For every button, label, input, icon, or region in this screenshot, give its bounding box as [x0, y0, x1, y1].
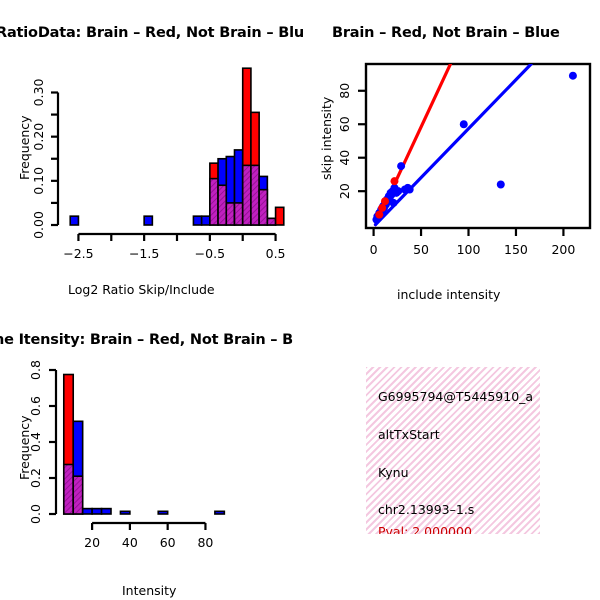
histogram-bar-overlap — [243, 165, 251, 225]
histogram-bar — [120, 511, 129, 514]
histogram-bar — [193, 216, 201, 225]
histogram-bar-overlap — [259, 190, 267, 225]
intensity-hist-title: ne Itensity: Brain – Red, Not Brain – B — [0, 332, 293, 348]
y-tick-label: 0.0 — [28, 504, 43, 524]
y-tick-label: 0.00 — [31, 211, 46, 239]
ratio-hist-title: RatioData: Brain – Red, Not Brain – Blu — [0, 25, 304, 41]
x-tick-label: 20 — [84, 535, 100, 550]
scatter-plot: 20406080050100150200 — [300, 55, 600, 305]
intensity-hist-ylabel: Frequency — [17, 415, 32, 480]
scatter-point — [460, 120, 468, 128]
info-line-event: altTxStart — [378, 427, 440, 442]
histogram-bar — [158, 511, 167, 514]
scatter-title: Brain – Red, Not Brain – Blue — [332, 25, 560, 41]
histogram-bar-overlap — [267, 218, 275, 225]
histogram-bar-overlap — [64, 465, 73, 515]
x-tick-label: 80 — [197, 535, 213, 550]
histogram-bar-overlap — [218, 185, 226, 225]
scatter-point — [497, 180, 505, 188]
panel-ratio-histogram: RatioData: Brain – Red, Not Brain – Blu … — [0, 0, 300, 310]
histogram-bar — [70, 216, 78, 225]
panel-intensity-scatter: Brain – Red, Not Brain – Blue 2040608005… — [300, 0, 600, 310]
panel-gene-intensity-histogram: ne Itensity: Brain – Red, Not Brain – B … — [0, 310, 300, 600]
scatter-point — [394, 187, 402, 195]
histogram-bar-overlap — [235, 203, 243, 225]
y-tick-label: 60 — [337, 116, 352, 132]
info-box-text-lines: G6995794@T5445910_aaltTxStartKynuchr2.13… — [366, 367, 540, 534]
scatter-xlabel: include intensity — [397, 287, 500, 302]
regression-line — [375, 64, 531, 225]
ratio-hist-ylabel: Frequency — [17, 115, 32, 180]
histogram-bar — [92, 509, 101, 514]
y-tick-label: 0.20 — [31, 123, 46, 151]
histogram-bar — [83, 509, 92, 514]
y-tick-label: 0.10 — [31, 167, 46, 195]
info-line-locus: chr2.13993–1.s — [378, 502, 474, 517]
histogram-bar-overlap — [210, 179, 218, 225]
scatter-ylabel: skip intensity — [319, 97, 334, 180]
scatter-point — [397, 162, 405, 170]
x-tick-label: 150 — [504, 242, 528, 257]
info-line-id: G6995794@T5445910_a — [378, 389, 533, 404]
x-tick-label: −0.5 — [195, 246, 225, 261]
x-tick-label: −2.5 — [63, 246, 93, 261]
y-tick-label: 80 — [337, 83, 352, 99]
histogram-bar — [202, 216, 210, 225]
scatter-point — [390, 199, 398, 207]
x-tick-label: 0.5 — [266, 246, 286, 261]
x-tick-label: 40 — [122, 535, 138, 550]
ratio-hist-xlabel: Log2 Ratio Skip/Include — [68, 282, 215, 297]
annotation-info-box: G6995794@T5445910_aaltTxStartKynuchr2.13… — [366, 367, 540, 534]
histogram-bar — [102, 509, 111, 514]
x-tick-label: 50 — [413, 242, 429, 257]
histogram-bar-overlap — [73, 476, 82, 514]
y-tick-label: 40 — [337, 150, 352, 166]
y-tick-label: 0.30 — [31, 79, 46, 107]
scatter-point — [406, 186, 414, 194]
plot-frame — [366, 64, 590, 228]
scatter-point — [390, 177, 398, 185]
x-tick-label: 60 — [160, 535, 176, 550]
scatter-point — [569, 72, 577, 80]
intensity-histogram-plot: 0.00.20.40.60.820406080 — [0, 362, 300, 592]
x-tick-label: 100 — [457, 242, 481, 257]
x-tick-label: −1.5 — [129, 246, 159, 261]
histogram-bar — [215, 511, 224, 514]
info-line-pval: Pval: 2.000000 — [378, 524, 472, 534]
histogram-bar — [144, 216, 152, 225]
info-line-gene: Kynu — [378, 465, 409, 480]
histogram-bar-overlap — [226, 203, 234, 225]
histogram-bar-overlap — [251, 165, 259, 225]
ratio-histogram-plot: 0.000.100.200.30−2.5−1.5−0.50.5 — [0, 58, 300, 308]
scatter-point — [381, 197, 389, 205]
intensity-hist-xlabel: Intensity — [122, 583, 176, 598]
y-tick-label: 20 — [337, 183, 352, 199]
y-tick-label: 0.6 — [28, 396, 43, 416]
histogram-bar — [276, 207, 284, 225]
y-tick-label: 0.8 — [28, 360, 43, 380]
x-tick-label: 0 — [370, 242, 378, 257]
x-tick-label: 200 — [551, 242, 575, 257]
